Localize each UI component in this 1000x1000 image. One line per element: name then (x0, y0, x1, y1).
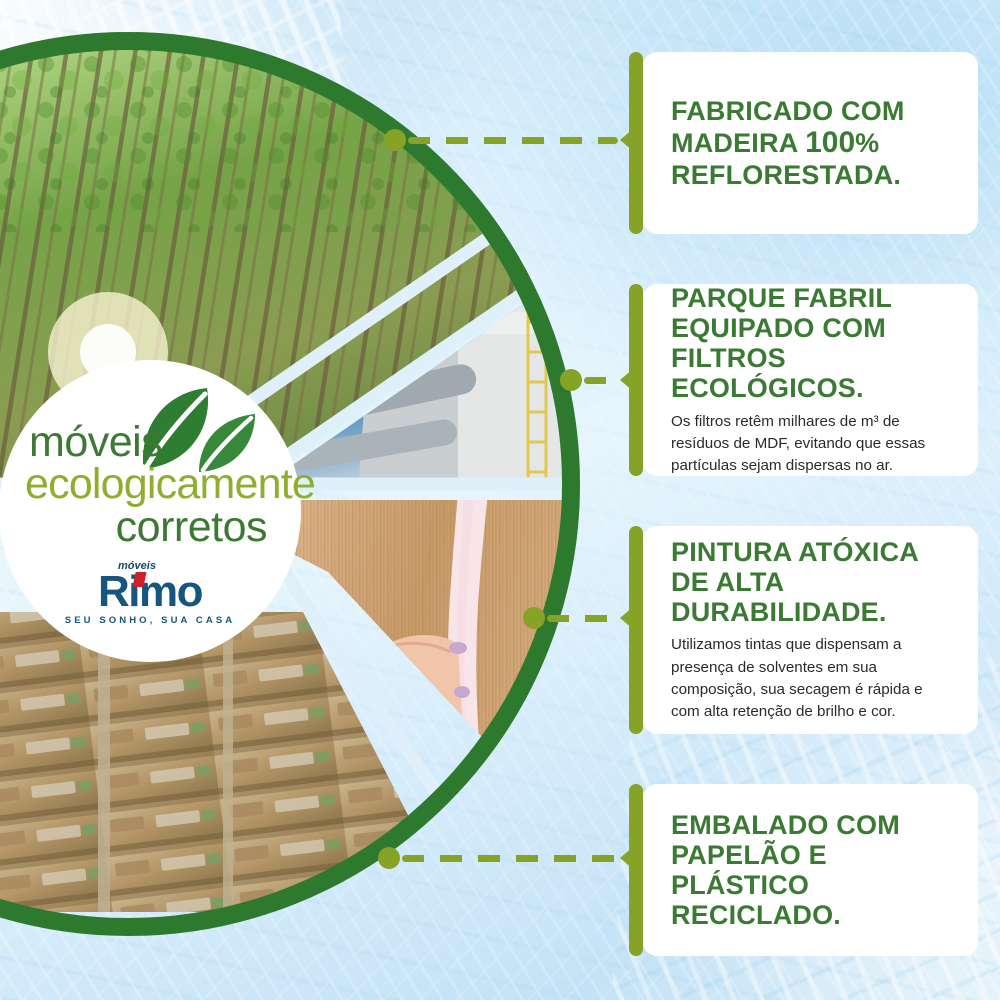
card-panel: EMBALADO COM PAPELÃO E PLÁSTICO RECICLAD… (643, 784, 978, 956)
dashed-line-icon (402, 855, 618, 862)
connector-dot-icon (384, 129, 406, 151)
feature-card-pintura: PINTURA ATÓXICA DE ALTA DURABILIDADE. Ut… (629, 526, 978, 734)
connector-dot-icon (523, 607, 545, 629)
infographic-canvas: FABRICADO COM MADEIRA 100% REFLORESTADA.… (0, 0, 1000, 1000)
feature-card-filtros: PARQUE FABRIL EQUIPADO COM FILTROS ECOLÓ… (629, 284, 978, 476)
card-body: Utilizamos tintas que dispensam a presen… (671, 634, 952, 723)
rimo-tagline: SEU SONHO, SUA CASA (0, 615, 301, 626)
card-accent-bar (629, 52, 643, 234)
card-title: FABRICADO COM MADEIRA 100% REFLORESTADA. (671, 96, 952, 190)
badge-line-1: móveis (15, 422, 285, 463)
connector-1 (384, 128, 646, 152)
card-accent-bar (629, 284, 643, 476)
connector-4 (378, 846, 646, 870)
card-title: PARQUE FABRIL EQUIPADO COM FILTROS ECOLÓ… (671, 283, 952, 404)
card-accent-bar (629, 526, 643, 734)
card-title: EMBALADO COM PAPELÃO E PLÁSTICO RECICLAD… (671, 810, 952, 931)
card-title-highlight: 100 (805, 126, 855, 159)
connector-3 (523, 606, 646, 630)
badge-wordmark: móveis ecologicamente corretos (0, 422, 301, 549)
rimo-brand-logo: móveis Rimo SEU SONHO, SUA CASA (0, 561, 301, 626)
logo-badge: móveis ecologicamente corretos móveis Ri… (0, 360, 301, 662)
card-panel: FABRICADO COM MADEIRA 100% REFLORESTADA. (643, 52, 978, 234)
card-body: Os filtros retêm milhares de m³ de resíd… (671, 411, 952, 478)
connector-dot-icon (560, 369, 582, 391)
feature-card-embalagem: EMBALADO COM PAPELÃO E PLÁSTICO RECICLAD… (629, 784, 978, 956)
card-title: PINTURA ATÓXICA DE ALTA DURABILIDADE. (671, 537, 952, 628)
feature-card-reflorestada: FABRICADO COM MADEIRA 100% REFLORESTADA. (629, 52, 978, 234)
dashed-line-icon (408, 137, 618, 144)
badge-line-3: corretos (15, 506, 285, 549)
card-accent-bar (629, 784, 643, 956)
dashed-line-icon (547, 615, 618, 622)
card-panel: PINTURA ATÓXICA DE ALTA DURABILIDADE. Ut… (643, 526, 978, 734)
badge-line-2: ecologicamente (15, 463, 285, 506)
rimo-wordmark: Rimo (98, 570, 202, 614)
card-panel: PARQUE FABRIL EQUIPADO COM FILTROS ECOLÓ… (643, 284, 978, 476)
connector-dot-icon (378, 847, 400, 869)
dashed-line-icon (584, 377, 618, 384)
